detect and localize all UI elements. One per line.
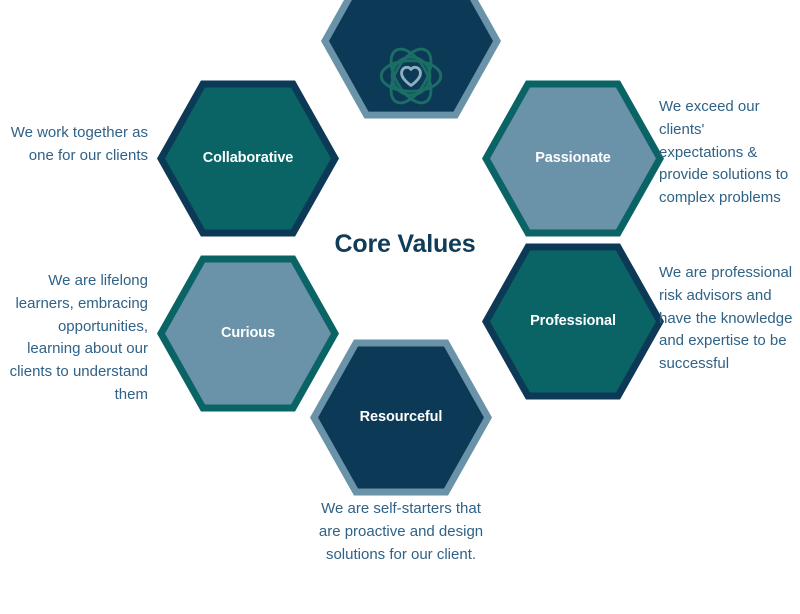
hexagon-resourceful[interactable]: Resourceful — [311, 340, 491, 495]
description-resourceful: We are self-starters that are proactive … — [316, 498, 486, 566]
description-collaborative: We work together as one for our clients — [6, 122, 148, 168]
hexagon-center-shape — [325, 0, 497, 115]
page-title: Core Values — [300, 230, 510, 259]
hexagon-center-icon — [322, 0, 500, 118]
description-curious: We are lifelong learners, embracing oppo… — [6, 270, 148, 407]
hexagon-professional[interactable]: Professional — [483, 244, 663, 399]
description-professional: We are professional risk advisors and ha… — [659, 262, 797, 376]
description-passionate: We exceed our clients' expectations & pr… — [659, 96, 791, 210]
core-values-diagram: Collaborative We work together as one fo… — [0, 0, 800, 614]
hexagon-passionate[interactable]: Passionate — [483, 81, 663, 236]
hexagon-collaborative[interactable]: Collaborative — [158, 81, 338, 236]
